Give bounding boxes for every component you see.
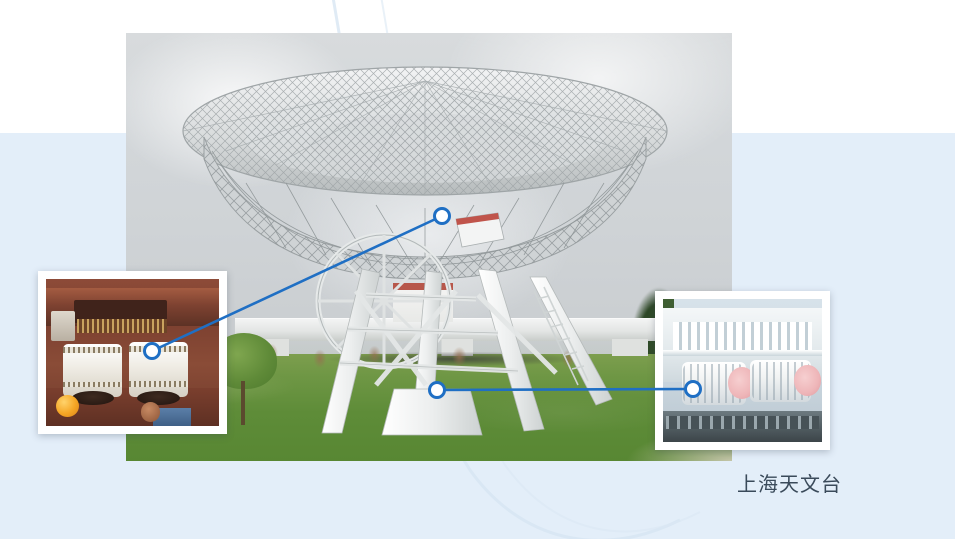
inset-left-bolt-row (77, 319, 167, 334)
inset-photo-refurbished-assembly (655, 291, 830, 450)
inset-right-base-bolts (666, 416, 819, 429)
inset-left-cylinder-b-ring-bottom (129, 381, 188, 386)
inset-right-cylinder-b-pink-cap (794, 365, 821, 396)
inset-right-scene (663, 299, 822, 442)
inset-left-cylinder-b (129, 342, 188, 396)
inset-left-scene (46, 279, 219, 426)
inset-left-white-block (51, 311, 75, 340)
inset-photo-old-bearing-assembly (38, 271, 227, 434)
inset-right-rail (663, 350, 822, 356)
inset-left-worker-head (141, 402, 160, 421)
inset-left-image (46, 279, 219, 426)
inset-left-orange-object (56, 395, 78, 417)
inset-right-image (663, 299, 822, 442)
inset-left-cylinder-a-ring-bottom (63, 382, 122, 387)
inset-left-cylinder-b-ring-top (129, 346, 188, 352)
inset-left-cylinder-a (63, 344, 122, 397)
slide-canvas: 上海天文台 (0, 0, 955, 539)
inset-right-cylinder-b (750, 360, 810, 401)
inset-left-cylinder-a-ring-top (63, 347, 122, 353)
slide-caption: 上海天文台 (737, 468, 842, 497)
inset-right-cylinder-a (682, 362, 746, 405)
inset-right-fin-row (673, 322, 813, 353)
